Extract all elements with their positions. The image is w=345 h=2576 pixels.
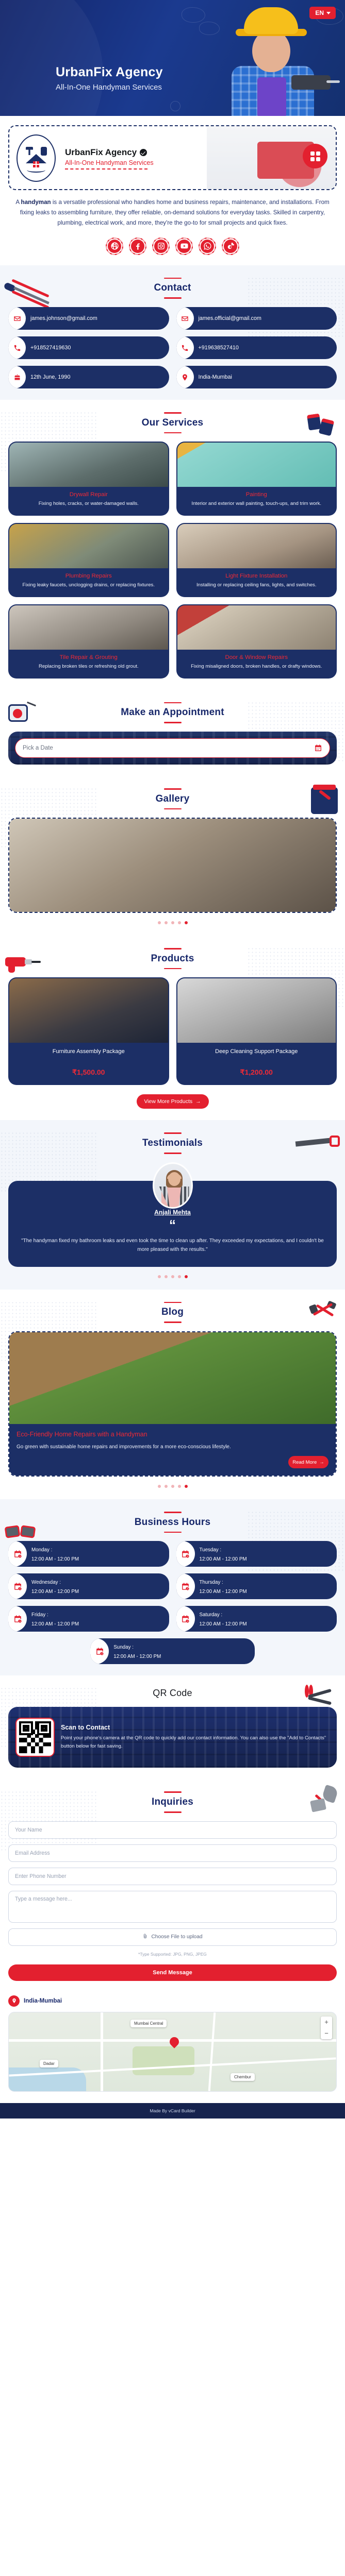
carousel-dot[interactable] [178,1275,181,1278]
send-message-label: Send Message [153,1970,192,1976]
hero-subtitle: All-In-One Handyman Services [56,83,163,92]
service-name: Door & Window Repairs [183,654,331,660]
map-park-area [133,2046,194,2075]
products-heading-block: Products [8,948,337,969]
read-more-button[interactable]: Read More → [288,1456,328,1468]
map-place-label: Mumbai Central [130,2020,167,2027]
service-name: Drywall Repair [14,492,163,498]
service-image [9,524,168,568]
business-hours-row: Monday : 12:00 AM - 12:00 PM [8,1541,169,1567]
map-section: India-Mumbai Mumbai Central Dadar Chembu… [0,1992,345,2103]
blog-section: Blog Eco-Friendly Home Repairs with a Ha… [0,1290,345,1500]
email-icon [8,307,26,330]
zoom-out-button[interactable]: − [324,2029,328,2037]
hero-text-block: UrbanFix Agency All-In-One Handyman Serv… [56,65,163,92]
business-hours-day: Saturday : [200,1612,223,1618]
send-message-button[interactable]: Send Message [8,1964,337,1981]
service-card[interactable]: Tile Repair & Grouting Replacing broken … [8,604,169,679]
email-placeholder: Email Address [15,1850,50,1856]
inquiries-heading-block: Inquiries [8,1791,337,1812]
service-card[interactable]: Plumbing Repairs Fixing leaky faucets, u… [8,523,169,597]
heading-rule-bottom [164,968,182,970]
blog-post-title: Eco-Friendly Home Repairs with a Handyma… [17,1431,328,1438]
service-card[interactable]: Drywall Repair Fixing holes, cracks, or … [8,442,169,516]
contact-item-phone-1[interactable]: +918527419630 [8,336,169,359]
heading-rule-bottom [164,1811,182,1813]
heading-rule-bottom [164,1321,182,1323]
tiktok-icon[interactable] [222,238,239,255]
location-icon [176,366,194,388]
avatar [153,1162,193,1209]
services-section: Our Services Drywall Repair Fixing holes… [0,400,345,690]
house-tools-icon [24,146,48,171]
contact-heading-block: Contact [8,278,337,299]
calendar-clock-icon [8,1573,27,1599]
company-logo [17,134,56,182]
service-image [177,605,336,650]
calendar-clock-icon [90,1638,109,1664]
testimonial-carousel: Anjali Mehta “ "The handyman fixed my ba… [8,1162,337,1267]
heading-rule-bottom [164,1153,182,1154]
heading-rule-bottom [164,432,182,434]
business-hours-row: Thursday : 12:00 AM - 12:00 PM [176,1573,337,1599]
service-description: Fixing holes, cracks, or water-damaged w… [14,500,163,508]
contact-item-location[interactable]: India-Mumbai [176,366,337,388]
worker-photo [214,5,333,116]
heading-rule-bottom [164,722,182,723]
vcard-page: EN UrbanFix Agency All-In-One Handyman S… [0,0,345,2119]
business-hours-heading-block: Business Hours [8,1512,337,1533]
service-name: Painting [183,492,331,498]
map-place-label: Dadar [40,2060,58,2067]
service-name: Tile Repair & Grouting [14,654,163,660]
date-placeholder: Pick a Date [23,745,53,751]
carousel-dot[interactable] [158,1485,161,1488]
profile-meta: UrbanFix Agency All-In-One Handyman Serv… [63,147,154,170]
hero-title: UrbanFix Agency [56,65,163,80]
contact-value: james.official@gmail.com [199,315,261,321]
business-hours-row: Tuesday : 12:00 AM - 12:00 PM [176,1541,337,1567]
map-zoom-controls[interactable]: + − [321,2016,332,2039]
services-heading-block: Our Services [8,412,337,433]
facebook-icon[interactable] [129,238,146,255]
calendar-clock-icon [176,1606,195,1632]
business-hours-row-sunday: Sunday : 12:00 AM - 12:00 PM [90,1638,255,1664]
products-title: Products [8,953,337,964]
service-name: Plumbing Repairs [14,573,163,579]
heading-rule-top [164,1791,182,1793]
carousel-dot[interactable] [165,921,168,924]
business-hours-row: Saturday : 12:00 AM - 12:00 PM [176,1606,337,1632]
service-card[interactable]: Light Fixture Installation Installing or… [176,523,337,597]
business-hours-row: Wednesday : 12:00 AM - 12:00 PM [8,1573,169,1599]
qr-text-block: Scan to Contact Point your phone's camer… [61,1724,330,1751]
testimonials-carousel-dots [8,1267,337,1278]
email-icon [176,307,194,330]
appointment-heading-block: Make an Appointment [8,702,337,723]
business-hours-time: 12:00 AM - 12:00 PM [31,1589,79,1595]
gallery-section: Gallery [0,776,345,936]
about-lead: A [15,199,21,206]
profile-name: UrbanFix Agency [65,147,137,158]
about-bold-word: handyman [21,199,51,206]
qr-code-image[interactable] [15,1718,55,1757]
blog-card[interactable]: Eco-Friendly Home Repairs with a Handyma… [8,1331,337,1477]
social-links-row [0,228,345,265]
heading-rule-top [164,702,182,704]
map-location-label: India-Mumbai [24,1998,62,2004]
business-hours-row: Friday : 12:00 AM - 12:00 PM [8,1606,169,1632]
carousel-dot[interactable] [171,1275,174,1278]
business-hours-day: Friday : [31,1612,48,1618]
phone-icon [8,336,26,359]
product-price: ₹1,200.00 [183,1068,331,1077]
file-type-note: *Type Supported: JPG, PNG, JPEG [8,1952,337,1957]
tagline-dashed-rule [65,168,147,170]
carousel-dot[interactable] [165,1275,168,1278]
footer: Made By vCard Builder [0,2103,345,2119]
carousel-dot[interactable] [165,1485,168,1488]
footer-credit: Made By vCard Builder [150,2108,195,2113]
blog-title: Blog [8,1307,337,1318]
map-location-header: India-Mumbai [8,1995,337,2012]
products-section: Products Furniture Assembly Package ₹1,5… [0,936,345,1120]
gallery-title: Gallery [8,793,337,805]
zoom-in-button[interactable]: + [324,2018,328,2026]
gallery-heading-block: Gallery [8,788,337,809]
carousel-dot[interactable] [158,1275,161,1278]
appointment-card: Pick a Date [8,732,337,765]
quote-mark-icon: “ [19,1218,326,1231]
paperclip-icon [142,1934,148,1941]
contact-value: james.johnson@gmail.com [30,315,97,321]
name-placeholder: Your Name [15,1827,42,1833]
carousel-dot[interactable] [158,921,161,924]
carousel-dot-active[interactable] [185,1485,188,1488]
message-placeholder: Type a message here... [15,1896,72,1902]
blog-carousel-dots [8,1477,337,1488]
calendar-clock-icon [176,1541,195,1567]
product-price: ₹1,500.00 [14,1068,163,1077]
contact-value: +918527419630 [30,345,71,351]
service-description: Interior and exterior wall painting, tou… [183,500,331,508]
service-card[interactable]: Painting Interior and exterior wall pain… [176,442,337,516]
map-embed[interactable]: Mumbai Central Dadar Chembur + − [8,2012,337,2092]
business-hours-day: Monday : [31,1547,52,1553]
file-upload-button[interactable]: Choose File to upload [8,1928,337,1946]
inquiries-title: Inquiries [8,1797,337,1808]
phone-icon [176,336,194,359]
business-hours-time: 12:00 AM - 12:00 PM [200,1589,247,1595]
arrow-right-icon: → [319,1460,324,1465]
arrow-right-icon: → [195,1098,201,1105]
heading-rule-top [164,1132,182,1134]
services-title: Our Services [8,417,337,429]
email-field[interactable]: Email Address [8,1844,337,1862]
heading-rule-top [164,788,182,790]
service-card[interactable]: Door & Window Repairs Fixing misaligned … [176,604,337,679]
hero-blob-decoration [182,7,205,23]
contact-section: Contact james.johnson@gmail.com james.of… [0,265,345,400]
service-name: Light Fixture Installation [183,573,331,579]
contact-value: India-Mumbai [199,374,232,380]
inquiries-section: Inquiries Your Name Email Address Enter … [0,1779,345,1992]
gallery-carousel[interactable] [8,818,337,913]
contact-item-phone-2[interactable]: +919638527410 [176,336,337,359]
service-image [177,443,336,487]
heading-rule-bottom [164,1532,182,1533]
carousel-dot-active[interactable] [185,1275,188,1278]
product-card[interactable]: Deep Cleaning Support Package ₹1,200.00 [176,977,337,1085]
testimonial-text: "The handyman fixed my bathroom leaks an… [19,1236,326,1255]
phone-field[interactable]: Enter Phone Number [8,1868,337,1885]
service-description: Installing or replacing ceiling fans, li… [183,582,331,589]
profile-name-row: UrbanFix Agency [65,147,154,158]
gallery-image [9,819,336,912]
appointment-title: Make an Appointment [8,707,337,718]
qr-code-card: Scan to Contact Point your phone's camer… [8,1707,337,1768]
carousel-dot-active[interactable] [185,921,188,924]
whatsapp-icon[interactable] [199,238,216,255]
contact-item-email-2[interactable]: james.official@gmail.com [176,307,337,330]
cake-icon [8,366,26,388]
calendar-clock-icon [176,1573,195,1599]
view-more-products-button[interactable]: View More Products → [137,1094,209,1109]
gear-icon [170,101,180,111]
qr-heading-block: QR Code [8,1688,337,1699]
heading-rule-top [164,1512,182,1513]
service-description: Fixing misaligned doors, broken handles,… [183,663,331,671]
product-image [177,978,336,1043]
heading-rule-top [164,412,182,414]
business-hours-time: 12:00 AM - 12:00 PM [200,1621,247,1627]
about-text-block: A handyman is a versatile professional w… [0,190,345,228]
service-image [9,605,168,650]
location-pin-icon [8,1995,20,2007]
instagram-icon[interactable] [152,238,170,255]
qr-description: Point your phone's camera at the QR code… [61,1734,330,1751]
view-more-label: View More Products [144,1098,192,1105]
products-grid: Furniture Assembly Package ₹1,500.00 Dee… [8,977,337,1085]
file-upload-label: Choose File to upload [151,1934,202,1940]
business-hours-time: 12:00 AM - 12:00 PM [113,1654,161,1659]
heading-rule-bottom [164,297,182,299]
map-place-label: Chembur [231,2073,255,2081]
business-hours-title: Business Hours [8,1517,337,1528]
blog-heading-block: Blog [8,1302,337,1323]
grid-icon [310,151,320,161]
business-hours-day: Tuesday : [200,1547,222,1553]
profile-card: UrbanFix Agency All-In-One Handyman Serv… [8,125,337,190]
contact-value: 12th June, 1990 [30,374,70,380]
message-textarea[interactable]: Type a message here... [8,1891,337,1923]
profile-section: UrbanFix Agency All-In-One Handyman Serv… [0,116,345,190]
testimonial-author: Anjali Mehta [19,1209,326,1216]
qr-title: QR Code [8,1688,337,1699]
business-hours-time: 12:00 AM - 12:00 PM [200,1556,247,1562]
service-image [177,524,336,568]
service-description: Replacing broken tiles or refreshing old… [14,663,163,671]
heading-rule-top [164,948,182,950]
hero-arc-decoration [0,0,103,116]
contact-value: +919638527410 [199,345,239,351]
heading-rule-top [164,278,182,279]
contact-title: Contact [8,282,337,294]
contact-item-email-1[interactable]: james.johnson@gmail.com [8,307,169,330]
qr-code-section: QR Code Scan to Contact Point your phone… [0,1675,345,1779]
date-picker-input[interactable]: Pick a Date [15,738,330,758]
business-hours-day: Thursday : [200,1580,223,1585]
grid-menu-button[interactable] [303,144,327,168]
carousel-dot[interactable] [178,921,181,924]
map-road [208,2012,216,2091]
product-name: Furniture Assembly Package [14,1048,163,1063]
map-road [101,2012,103,2091]
business-hours-day: Wednesday : [31,1580,61,1585]
business-hours-day: Sunday : [113,1645,134,1650]
business-hours-time: 12:00 AM - 12:00 PM [31,1556,79,1562]
phone-placeholder: Enter Phone Number [15,1873,67,1879]
carousel-dot[interactable] [178,1485,181,1488]
inquiry-form: Your Name Email Address Enter Phone Numb… [8,1821,337,1981]
calendar-icon[interactable] [314,744,322,752]
business-hours-grid: Monday : 12:00 AM - 12:00 PM Tuesday : 1… [8,1541,337,1632]
heading-rule-top [164,1302,182,1303]
contact-grid: james.johnson@gmail.com james.official@g… [8,307,337,388]
business-hours-section: Business Hours Monday : 12:00 AM - 12:00… [0,1499,345,1675]
profile-tagline: All-In-One Handyman Services [65,159,154,166]
calendar-clock-icon [8,1606,27,1632]
verified-badge-icon [140,149,147,156]
website-icon[interactable] [106,238,123,255]
hero-banner: EN UrbanFix Agency All-In-One Handyman S… [0,0,345,116]
service-description: Fixing leaky faucets, unclogging drains,… [14,582,163,589]
service-image [9,443,168,487]
blog-image [9,1332,336,1424]
product-name: Deep Cleaning Support Package [183,1048,331,1063]
carousel-dot[interactable] [171,1485,174,1488]
heading-rule-bottom [164,808,182,810]
testimonials-section: Testimonials Anjali Mehta “ "The handyma… [0,1120,345,1289]
about-body: is a versatile professional who handles … [20,199,330,226]
product-card[interactable]: Furniture Assembly Package ₹1,500.00 [8,977,169,1085]
calendar-clock-icon [8,1541,27,1567]
youtube-icon[interactable] [175,238,193,255]
read-more-label: Read More [292,1460,317,1465]
testimonials-heading-block: Testimonials [8,1132,337,1154]
search-input-name[interactable]: Your Name [8,1821,337,1839]
testimonials-title: Testimonials [8,1138,337,1149]
qr-heading: Scan to Contact [61,1724,330,1731]
business-hours-time: 12:00 AM - 12:00 PM [31,1621,79,1627]
gallery-carousel-dots [8,913,337,924]
contact-item-birthday[interactable]: 12th June, 1990 [8,366,169,388]
carousel-dot[interactable] [171,921,174,924]
appointment-section: Make an Appointment Pick a Date [0,690,345,776]
blog-post-description: Go green with sustainable home repairs a… [17,1443,328,1452]
product-image [9,978,168,1043]
services-grid: Drywall Repair Fixing holes, cracks, or … [8,442,337,679]
